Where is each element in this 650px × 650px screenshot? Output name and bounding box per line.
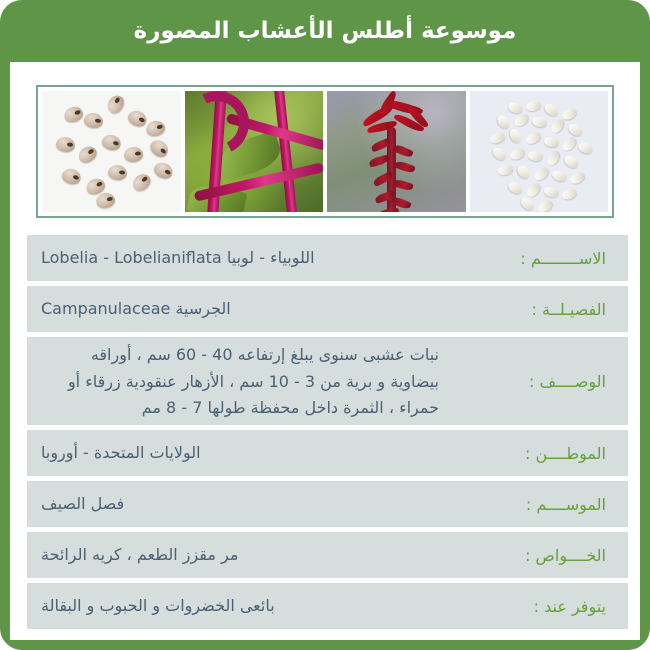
photo-gallery-strip [36,85,614,218]
row-value-properties: مر مقزز الطعم ، كريه الرائحة [27,532,453,578]
row-label-name: الاســــــــم : [453,235,628,281]
description-line-2: بيضاوية و برية من 3 - 10 سم ، الأزهار عن… [41,369,439,395]
herb-info-card: موسوعة أطلس الأعشاب المصورة [0,0,650,650]
row-value-family: الجرسية Campanulaceae [27,286,453,332]
description-lines: نبات عشبى سنوى يبلغ إرتفاعه 40 - 60 سم ،… [41,342,439,421]
black-eyed-pea-seeds-photo [42,91,181,212]
page-title: موسوعة أطلس الأعشاب المصورة [134,20,517,43]
row-value-habitat: الولايات المتحدة - أوروبا [27,430,453,476]
table-row-availability: يتوفر عند : بائعى الخضروات و الحبوب و ال… [22,583,628,629]
card-body: الاســــــــم : اللوبياء - لوبيا Lobelia… [10,62,640,640]
table-row-description: الوصــــف : نبات عشبى سنوى يبلغ إرتفاعه … [22,337,628,425]
lobelia-red-flower-spike-photo [327,91,466,212]
row-label-properties: الخــــواص : [453,532,628,578]
white-beans-photo [470,91,609,212]
row-label-season: الموســــم : [453,481,628,527]
row-label-habitat: الموطــــن : [453,430,628,476]
table-row-season: الموســــم : فصل الصيف [22,481,628,527]
description-line-3: حمراء ، الثمرة داخل محفظة طولها 7 - 8 مم [41,395,439,421]
card-header: موسوعة أطلس الأعشاب المصورة [0,0,650,62]
table-row-properties: الخــــواص : مر مقزز الطعم ، كريه الرائح… [22,532,628,578]
row-value-name: اللوبياء - لوبيا Lobelia - Lobelianiflat… [27,235,453,281]
row-value-availability: بائعى الخضروات و الحبوب و البقالة [27,583,453,629]
table-row-habitat: الموطــــن : الولايات المتحدة - أوروبا [22,430,628,476]
table-row-name: الاســــــــم : اللوبياء - لوبيا Lobelia… [22,235,628,281]
row-label-availability: يتوفر عند : [453,583,628,629]
row-value-season: فصل الصيف [27,481,453,527]
lobelia-red-stems-photo [185,91,324,212]
row-value-description: نبات عشبى سنوى يبلغ إرتفاعه 40 - 60 سم ،… [27,337,453,425]
herb-info-table: الاســــــــم : اللوبياء - لوبيا Lobelia… [22,235,628,629]
description-line-1: نبات عشبى سنوى يبلغ إرتفاعه 40 - 60 سم ،… [41,342,439,368]
row-label-family: الفصيـلــة : [453,286,628,332]
row-label-description: الوصــــف : [453,337,628,425]
table-row-family: الفصيـلــة : الجرسية Campanulaceae [22,286,628,332]
